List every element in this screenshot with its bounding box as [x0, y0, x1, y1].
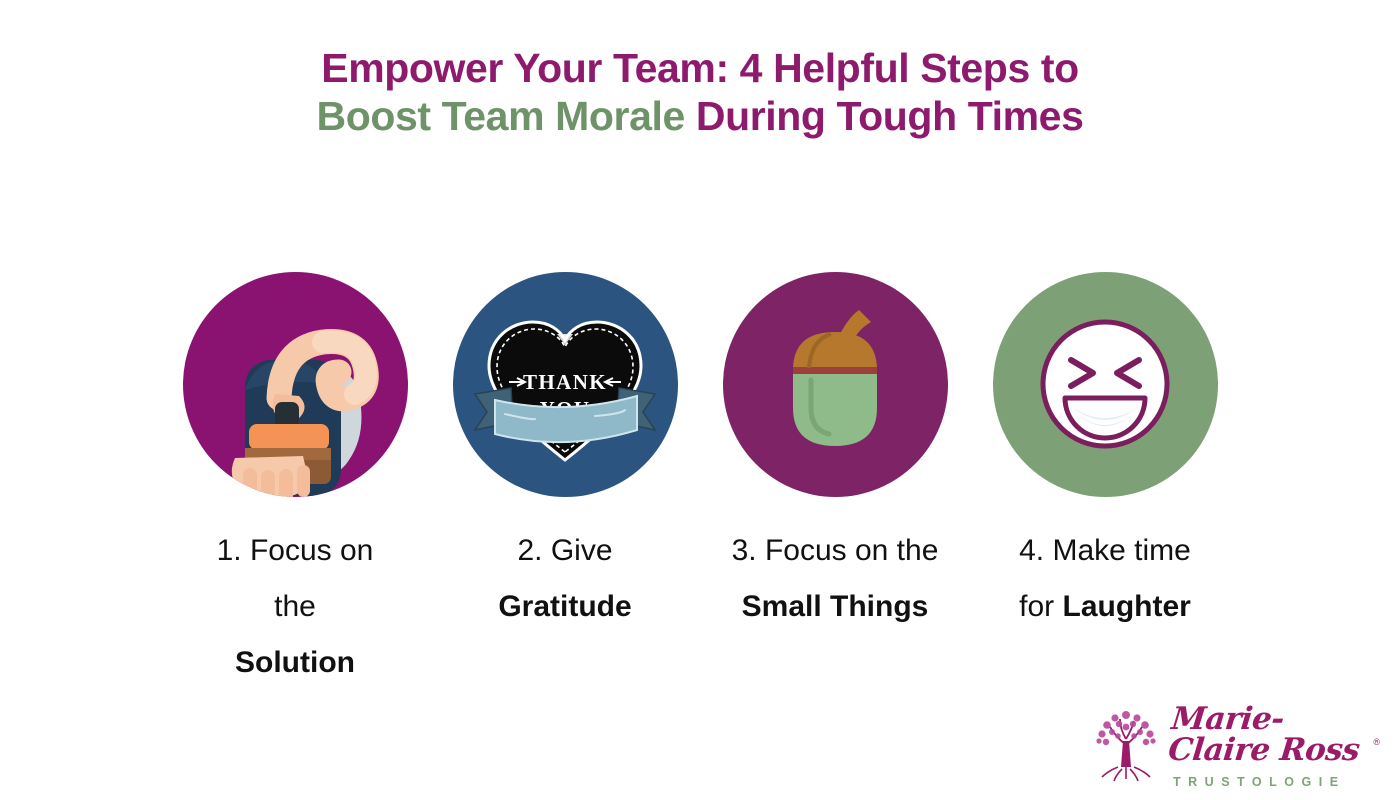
acorn-icon: [723, 272, 948, 497]
step-2-keyword: Gratitude: [498, 590, 631, 623]
step-3-caption: 3. Focus on the Small Things: [710, 523, 960, 635]
step-1-circle: [183, 272, 408, 497]
step-1[interactable]: 1. Focus on the Solution: [180, 272, 410, 690]
thank-you-heart-badge-icon: THANK YOU: [453, 272, 678, 497]
step-2-caption: 2. Give Gratitude: [440, 523, 690, 635]
step-3-caption-line-2: Small Things: [710, 579, 960, 635]
tree-icon: [1088, 705, 1164, 787]
steps-row: 1. Focus on the Solution THANK YOU: [0, 272, 1400, 690]
step-3-circle: [723, 272, 948, 497]
step-4[interactable]: 4. Make time for Laughter: [990, 272, 1220, 635]
step-2-circle: THANK YOU: [453, 272, 678, 497]
logo-text: Marie-Claire Ross TRUSTOLOGIE ®: [1170, 704, 1378, 789]
step-1-caption-line-1: 1. Focus on: [170, 523, 420, 579]
brand-logo[interactable]: Marie-Claire Ross TRUSTOLOGIE ®: [1088, 700, 1378, 792]
step-4-keyword: Laughter: [1063, 590, 1191, 623]
page-title: Empower Your Team: 4 Helpful Steps to Bo…: [0, 44, 1400, 141]
step-1-keyword: Solution: [235, 646, 355, 679]
step-3-keyword: Small Things: [742, 590, 929, 623]
step-1-caption: 1. Focus on the Solution: [170, 523, 420, 690]
step-4-caption-line-1: 4. Make time: [980, 523, 1230, 579]
step-2[interactable]: THANK YOU 2. Give Gratitude: [450, 272, 680, 635]
step-4-caption-prefix: for: [1019, 590, 1062, 623]
step-2-caption-line-2: Gratitude: [440, 579, 690, 635]
laughing-face-icon: [993, 272, 1218, 497]
title-highlight-green: Boost Team Morale: [317, 93, 685, 139]
registered-mark-icon: ®: [1373, 737, 1380, 747]
step-1-caption-line-2: the: [170, 579, 420, 635]
step-3[interactable]: 3. Focus on the Small Things: [720, 272, 950, 635]
step-4-caption-line-2: for Laughter: [980, 579, 1230, 635]
title-line-2-rest: During Tough Times: [685, 93, 1084, 139]
step-4-caption: 4. Make time for Laughter: [980, 523, 1230, 635]
step-2-caption-line-1: 2. Give: [440, 523, 690, 579]
logo-tagline: TRUSTOLOGIE: [1173, 775, 1346, 789]
badge-text-line-1: THANK: [522, 370, 606, 394]
title-line-2: Boost Team Morale During Tough Times: [0, 92, 1400, 140]
title-line-1: Empower Your Team: 4 Helpful Steps to: [0, 44, 1400, 92]
logo-name: Marie-Claire Ross: [1167, 704, 1382, 766]
step-4-circle: [993, 272, 1218, 497]
step-3-caption-line-1: 3. Focus on the: [710, 523, 960, 579]
step-1-caption-line-3: Solution: [170, 635, 420, 691]
hand-stamp-approval-icon: [183, 272, 408, 497]
